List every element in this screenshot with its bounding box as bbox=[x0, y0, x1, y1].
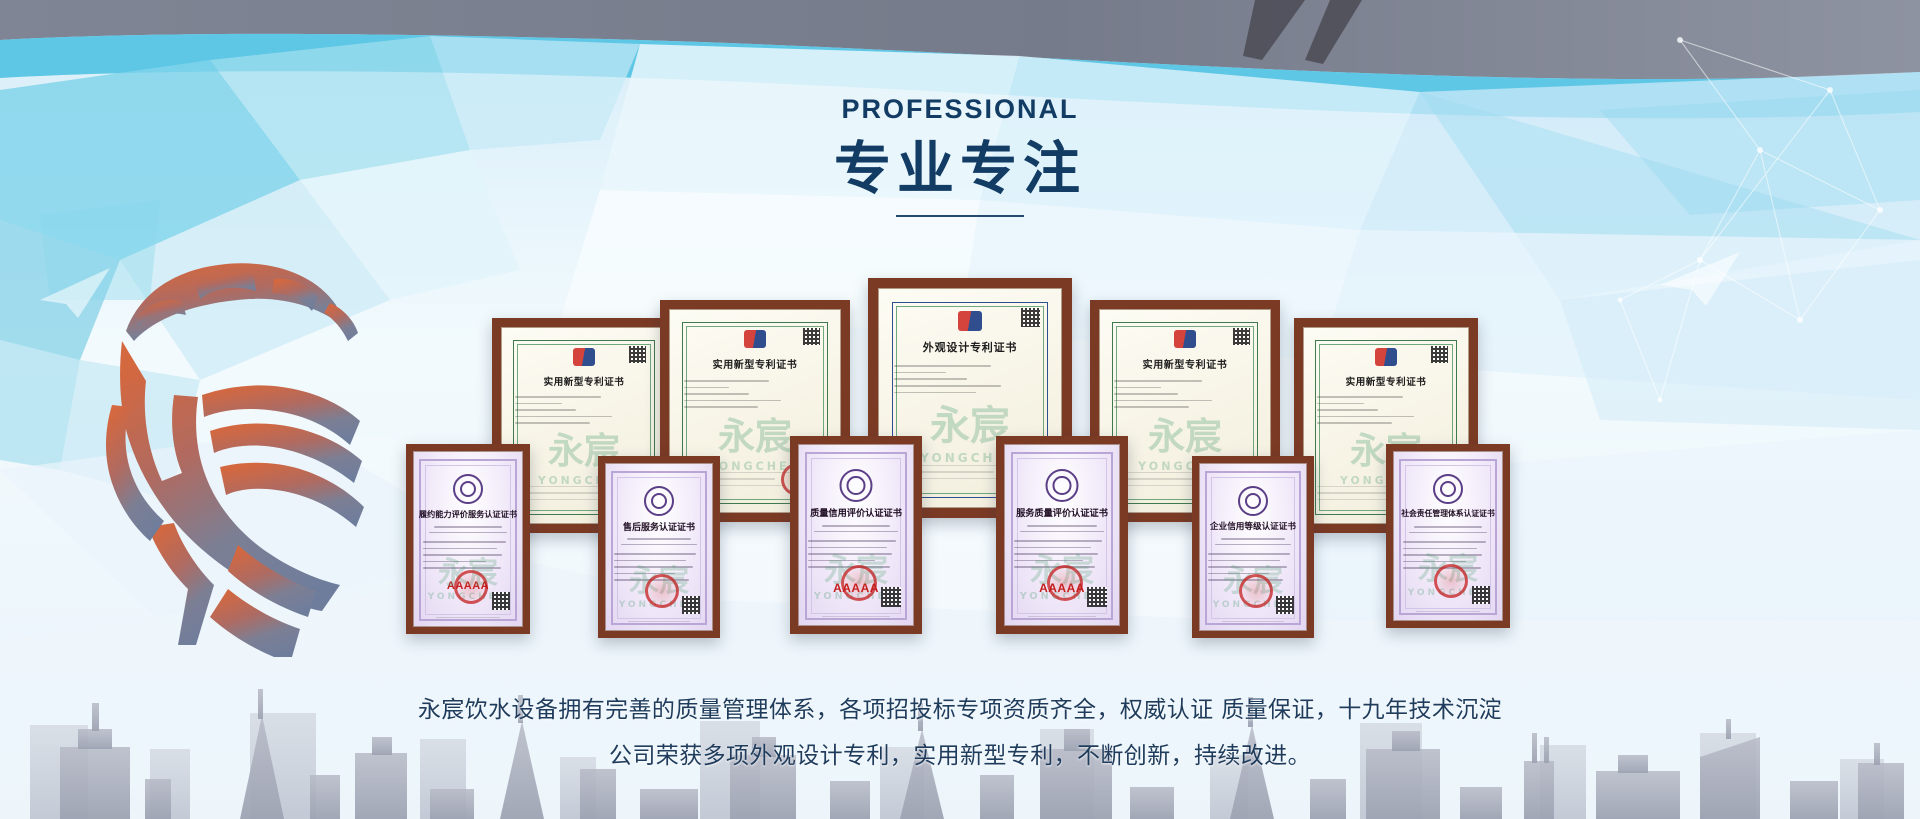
certificate-issuer-line bbox=[808, 616, 904, 617]
certificate-sheet: 社会责任管理体系认证证书 永宸 YONGCHEN bbox=[1393, 451, 1503, 621]
certificate-title: 企业信用等级认证证书 bbox=[1204, 520, 1302, 532]
banner-title: 专业专注 bbox=[0, 139, 1920, 201]
certificate-frame[interactable]: 质量信用评价认证证书 AAAAA 永宸 YONGCHEN bbox=[790, 436, 922, 634]
certificate-title: 服务质量评价认证证书 bbox=[1010, 505, 1115, 519]
certificate-body-lines bbox=[1317, 396, 1455, 429]
qr-code-icon bbox=[629, 346, 646, 363]
qr-code-icon bbox=[1276, 596, 1294, 614]
certificate-title: 外观设计专利证书 bbox=[886, 339, 1053, 355]
certificate-body-lines bbox=[1114, 380, 1257, 413]
patent-logo-icon bbox=[958, 311, 982, 331]
red-seal-icon bbox=[645, 574, 679, 608]
certificate-issuer-line bbox=[1403, 611, 1494, 612]
certification-emblem-icon bbox=[644, 486, 674, 516]
certificate-title: 实用新型专利证书 bbox=[509, 374, 660, 388]
red-seal-icon bbox=[454, 570, 488, 604]
qr-code-icon bbox=[1472, 586, 1490, 604]
red-seal-icon bbox=[1047, 565, 1083, 601]
qr-code-icon bbox=[492, 592, 510, 610]
red-seal-icon bbox=[1434, 564, 1468, 598]
certificate-title: 实用新型专利证书 bbox=[677, 356, 833, 371]
banner-footer: 永宸饮水设备拥有完善的质量管理体系，各项招投标专项资质齐全，权威认证 质量保证，… bbox=[0, 687, 1920, 779]
title-underline bbox=[896, 215, 1024, 217]
footer-line-1: 永宸饮水设备拥有完善的质量管理体系，各项招投标专项资质齐全，权威认证 质量保证，… bbox=[0, 687, 1920, 733]
certification-emblem-icon bbox=[1046, 469, 1079, 502]
certificate-sheet: 售后服务认证证书 永宸 YONGCHEN bbox=[605, 463, 713, 631]
certificate-body-lines bbox=[894, 365, 1047, 398]
qr-code-icon bbox=[1087, 587, 1107, 607]
patent-logo-icon bbox=[573, 348, 595, 366]
certificate-title: 履约能力评价服务认证证书 bbox=[418, 508, 517, 520]
qr-code-icon bbox=[1021, 308, 1040, 327]
certification-emblem-icon bbox=[453, 474, 483, 504]
certificate-title: 售后服务认证证书 bbox=[610, 520, 708, 533]
certificate-issuer-line bbox=[1014, 616, 1110, 617]
certification-emblem-icon bbox=[840, 469, 873, 502]
certificate-issuer-line bbox=[614, 621, 703, 622]
certification-emblem-icon bbox=[1433, 474, 1463, 504]
certificate-frame[interactable]: 售后服务认证证书 永宸 YONGCHEN bbox=[598, 456, 720, 638]
certificate-title: 社会责任管理体系认证证书 bbox=[1398, 508, 1497, 519]
certificate-sheet: 质量信用评价认证证书 AAAAA 永宸 YONGCHEN bbox=[798, 444, 914, 626]
qr-code-icon bbox=[1233, 328, 1250, 345]
banner-header: PROFESSIONAL 专业专注 bbox=[0, 96, 1920, 217]
certificate-sheet: 履约能力评价服务认证证书 AAAAA 永宸 YONGCHEN bbox=[413, 451, 523, 627]
qr-code-icon bbox=[1431, 346, 1448, 363]
qr-code-icon bbox=[803, 328, 820, 345]
certificate-issuer-line bbox=[423, 617, 514, 618]
banner-eyebrow: PROFESSIONAL bbox=[0, 96, 1920, 123]
certificate-title: 质量信用评价认证证书 bbox=[804, 505, 909, 519]
certificate-body-lines bbox=[684, 380, 827, 413]
qr-code-icon bbox=[881, 587, 901, 607]
certificate-body-lines bbox=[423, 526, 514, 574]
footer-line-2: 公司荣获多项外观设计专利，实用新型专利，不断创新，持续改进。 bbox=[0, 733, 1920, 779]
certificate-frame[interactable]: 服务质量评价认证证书 AAAAA 永宸 YONGCHEN bbox=[996, 436, 1128, 634]
certificate-sheet: 企业信用等级认证证书 永宸 YONGCHEN bbox=[1199, 463, 1307, 631]
certificate-frame[interactable]: 履约能力评价服务认证证书 AAAAA 永宸 YONGCHEN bbox=[406, 444, 530, 634]
qr-code-icon bbox=[682, 596, 700, 614]
certificate-title: 实用新型专利证书 bbox=[1107, 356, 1263, 371]
certificate-frame[interactable]: 企业信用等级认证证书 永宸 YONGCHEN bbox=[1192, 456, 1314, 638]
red-seal-icon bbox=[841, 565, 877, 601]
patent-logo-icon bbox=[744, 330, 766, 348]
patent-logo-icon bbox=[1174, 330, 1196, 348]
certificate-title: 实用新型专利证书 bbox=[1311, 374, 1462, 388]
promo-banner: 实用新型专利证书 永宸 YONGCHEN bbox=[0, 0, 1920, 819]
certificate-body-lines bbox=[515, 396, 653, 429]
certificate-sheet: 服务质量评价认证证书 AAAAA 永宸 YONGCHEN bbox=[1004, 444, 1120, 626]
certification-emblem-icon bbox=[1238, 486, 1268, 516]
certificate-issuer-line bbox=[1208, 621, 1297, 622]
patent-logo-icon bbox=[1375, 348, 1397, 366]
red-seal-icon bbox=[1239, 574, 1273, 608]
certificate-frame[interactable]: 社会责任管理体系认证证书 永宸 YONGCHEN bbox=[1386, 444, 1510, 628]
